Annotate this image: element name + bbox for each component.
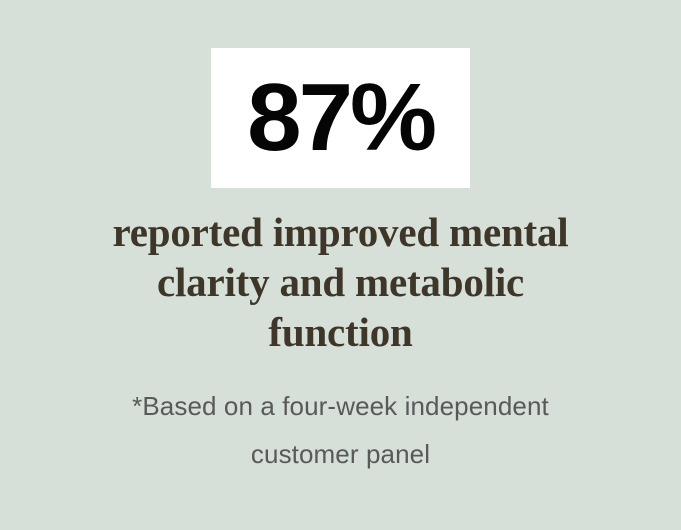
footnote-line: customer panel <box>61 430 621 478</box>
stat-value-card: 87% <box>211 48 470 188</box>
headline-line: reported improved mental <box>41 207 641 257</box>
headline: reported improved mental clarity and met… <box>41 207 641 357</box>
stat-callout-block: 87% reported improved mental clarity and… <box>0 0 681 530</box>
headline-line: function <box>41 307 641 357</box>
footnote-disclaimer: *Based on a four-week independent custom… <box>61 382 621 478</box>
stat-percentage-value: 87% <box>247 70 434 166</box>
headline-line: clarity and metabolic <box>41 257 641 307</box>
footnote-line: *Based on a four-week independent <box>61 382 621 430</box>
